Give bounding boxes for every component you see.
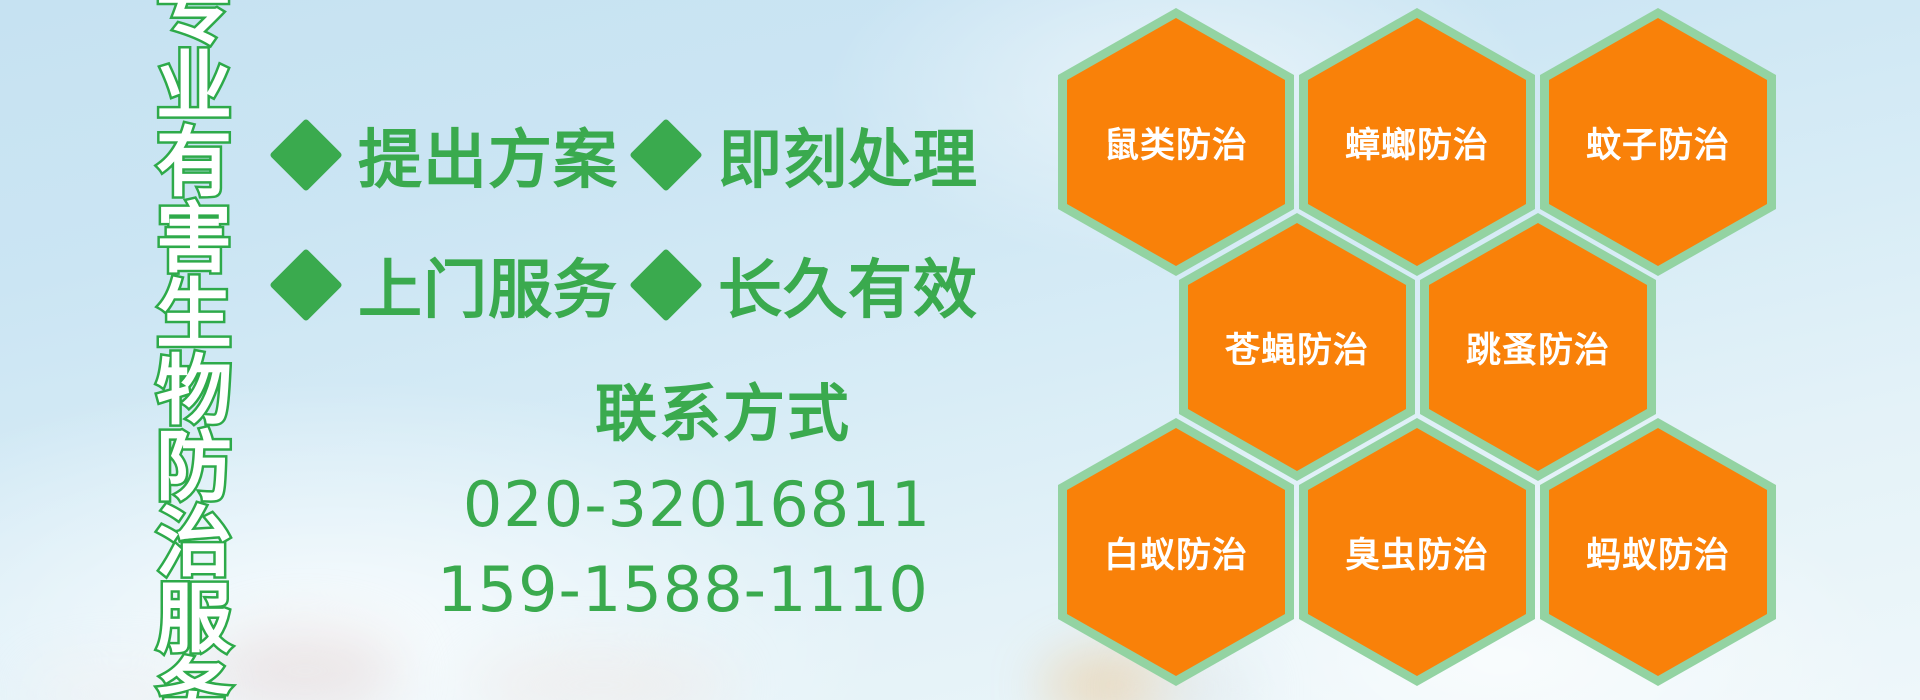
diamond-bullet-icon	[629, 118, 703, 192]
contact-phone-landline[interactable]: 020-32016811	[364, 465, 1030, 546]
vertical-headline: 专业有害生物防治服务	[133, 14, 225, 686]
feature-item-onsite-service: 上门服务	[280, 239, 640, 331]
hex-inner: 跳蚤防治	[1429, 223, 1647, 471]
feature-row: 上门服务 长久有效	[280, 220, 1040, 350]
feature-list: 提出方案 即刻处理 上门服务 长久有效	[280, 90, 1040, 350]
contact-block: 联系方式 020-32016811 159-1588-1110	[330, 378, 1030, 630]
hex-inner: 苍蝇防治	[1188, 223, 1406, 471]
hex-label: 蟑螂防治	[1345, 117, 1489, 168]
feature-label: 上门服务	[358, 239, 618, 331]
feature-label: 长久有效	[718, 239, 978, 331]
feature-item-immediate-handling: 即刻处理	[640, 109, 1000, 201]
contact-phone-mobile[interactable]: 159-1588-1110	[336, 550, 1030, 631]
hex-label: 苍蝇防治	[1225, 322, 1369, 373]
feature-label: 即刻处理	[718, 109, 978, 201]
feature-row: 提出方案 即刻处理	[280, 90, 1040, 220]
hex-label: 鼠类防治	[1104, 117, 1248, 168]
hex-label: 跳蚤防治	[1466, 322, 1610, 373]
background-bokeh-blob	[470, 650, 730, 700]
feature-item-propose-plan: 提出方案	[280, 109, 640, 201]
hex-inner: 蚊子防治	[1549, 18, 1767, 266]
contact-title: 联系方式	[416, 378, 1030, 449]
hex-inner: 蟑螂防治	[1308, 18, 1526, 266]
hex-label: 蚊子防治	[1586, 117, 1730, 168]
hex-inner: 蚂蚁防治	[1549, 428, 1767, 676]
service-honeycomb: 鼠类防治 蟑螂防治 蚊子防治 苍蝇防治 跳蚤防治 白蚁防治	[1040, 0, 1830, 700]
hex-inner: 臭虫防治	[1308, 428, 1526, 676]
hex-inner: 鼠类防治	[1067, 18, 1285, 266]
diamond-bullet-icon	[269, 118, 343, 192]
feature-item-long-lasting: 长久有效	[640, 239, 1000, 331]
diamond-bullet-icon	[629, 248, 703, 322]
diamond-bullet-icon	[269, 248, 343, 322]
feature-label: 提出方案	[358, 109, 618, 201]
promo-banner: 专业有害生物防治服务 提出方案 即刻处理 上门服务 长久有效 联系方式	[0, 0, 1920, 700]
hex-label: 臭虫防治	[1345, 527, 1489, 578]
hex-label: 蚂蚁防治	[1586, 527, 1730, 578]
background-bokeh-blob	[210, 628, 400, 700]
hex-inner: 白蚁防治	[1067, 428, 1285, 676]
hex-label: 白蚁防治	[1104, 527, 1248, 578]
